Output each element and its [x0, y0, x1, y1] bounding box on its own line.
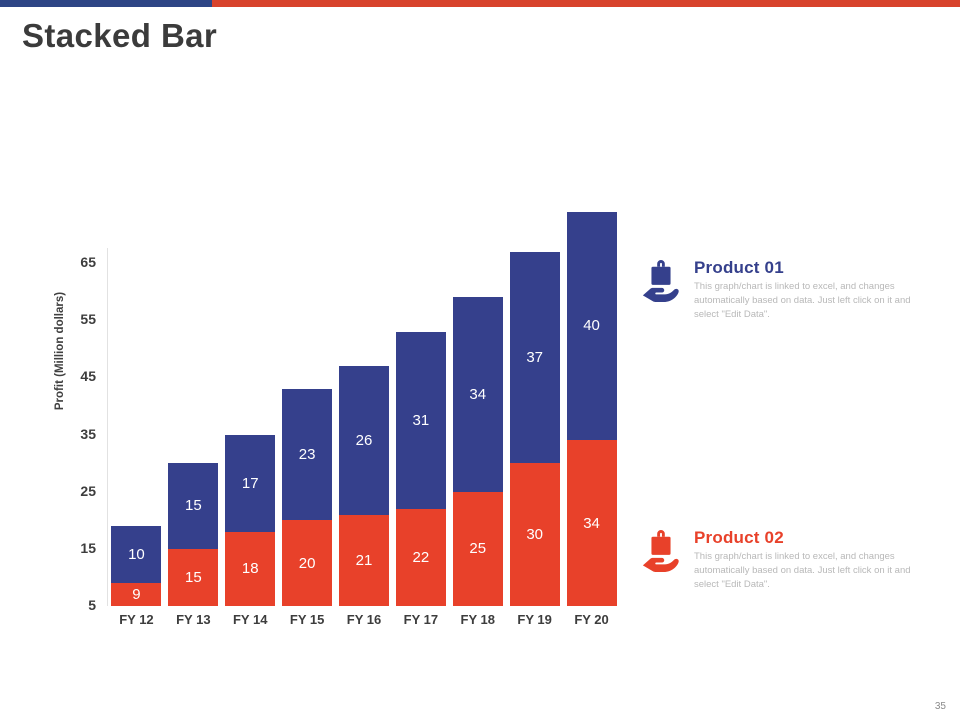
bar-value-label: 34 — [583, 516, 600, 531]
legend-text-product-01: Product 01 This graph/chart is linked to… — [694, 258, 930, 321]
bar-group[interactable]: 3730 — [510, 252, 560, 606]
bar-segment-product-02[interactable]: 9 — [111, 583, 161, 606]
bar-group[interactable]: 2621 — [339, 366, 389, 606]
y-axis-tick: 55 — [62, 311, 96, 327]
legend-body-product-02: This graph/chart is linked to excel, and… — [694, 550, 930, 591]
y-axis-tick: 65 — [62, 254, 96, 270]
bar-segment-product-01[interactable]: 31 — [396, 332, 446, 509]
bar-value-label: 26 — [356, 433, 373, 448]
bar-segment-product-01[interactable]: 34 — [453, 297, 503, 491]
bar-group[interactable]: 4034 — [567, 212, 617, 606]
bar-value-label: 23 — [299, 447, 316, 462]
y-axis-title: Profit (Million dollars) — [54, 251, 66, 451]
bar-value-label: 21 — [356, 553, 373, 568]
y-axis-tick: 45 — [62, 368, 96, 384]
bar-segment-product-02[interactable]: 22 — [396, 509, 446, 606]
legend-item-product-01: Product 01 This graph/chart is linked to… — [640, 258, 930, 321]
bar-segment-product-02[interactable]: 15 — [168, 549, 218, 606]
bar-value-label: 30 — [526, 527, 543, 542]
y-axis-tick: 35 — [62, 426, 96, 442]
bar-value-label: 10 — [128, 547, 145, 562]
bar-value-label: 15 — [185, 498, 202, 513]
bar-segment-product-01[interactable]: 10 — [111, 526, 161, 583]
bar-value-label: 34 — [469, 387, 486, 402]
stacked-bar-chart: Profit (Million dollars) 6555453525155 1… — [0, 0, 960, 720]
bar-group[interactable]: 1515 — [168, 463, 218, 606]
bar-segment-product-01[interactable]: 17 — [225, 435, 275, 532]
bar-group[interactable]: 1718 — [225, 435, 275, 606]
legend-title-product-01: Product 01 — [694, 258, 930, 278]
bar-group[interactable]: 2320 — [282, 389, 332, 606]
bar-group[interactable]: 3425 — [453, 297, 503, 606]
y-axis-tick: 5 — [62, 597, 96, 613]
bar-value-label: 9 — [132, 587, 140, 602]
bar-segment-product-02[interactable]: 30 — [510, 463, 560, 606]
bar-segment-product-01[interactable]: 26 — [339, 366, 389, 515]
page-number: 35 — [935, 701, 946, 712]
bar-segment-product-02[interactable]: 20 — [282, 520, 332, 606]
plot-area: 10915151718232026213122342537304034 — [108, 228, 620, 606]
bar-value-label: 40 — [583, 318, 600, 333]
bar-group[interactable]: 109 — [111, 526, 161, 606]
bar-value-label: 17 — [242, 476, 259, 491]
bar-value-label: 15 — [185, 570, 202, 585]
bar-group[interactable]: 3122 — [396, 332, 446, 606]
bar-value-label: 25 — [469, 541, 486, 556]
bar-segment-product-02[interactable]: 21 — [339, 515, 389, 606]
bar-segment-product-01[interactable]: 15 — [168, 463, 218, 549]
shopping-bag-on-hand-icon — [640, 258, 682, 304]
y-axis-tick: 25 — [62, 483, 96, 499]
bar-segment-product-01[interactable]: 40 — [567, 212, 617, 441]
legend-body-product-01: This graph/chart is linked to excel, and… — [694, 280, 930, 321]
legend-text-product-02: Product 02 This graph/chart is linked to… — [694, 528, 930, 591]
legend-title-product-02: Product 02 — [694, 528, 930, 548]
bar-segment-product-02[interactable]: 25 — [453, 492, 503, 606]
bar-value-label: 20 — [299, 556, 316, 571]
bar-segment-product-01[interactable]: 23 — [282, 389, 332, 520]
x-axis-tick: FY 20 — [557, 612, 627, 627]
bar-segment-product-02[interactable]: 18 — [225, 532, 275, 606]
bar-value-label: 31 — [413, 413, 430, 428]
bar-value-label: 22 — [413, 550, 430, 565]
bar-segment-product-01[interactable]: 37 — [510, 252, 560, 464]
y-axis-tick: 15 — [62, 540, 96, 556]
bar-value-label: 18 — [242, 561, 259, 576]
shopping-bag-on-hand-icon — [640, 528, 682, 574]
bar-segment-product-02[interactable]: 34 — [567, 440, 617, 606]
bar-value-label: 37 — [526, 350, 543, 365]
legend-item-product-02: Product 02 This graph/chart is linked to… — [640, 528, 930, 591]
